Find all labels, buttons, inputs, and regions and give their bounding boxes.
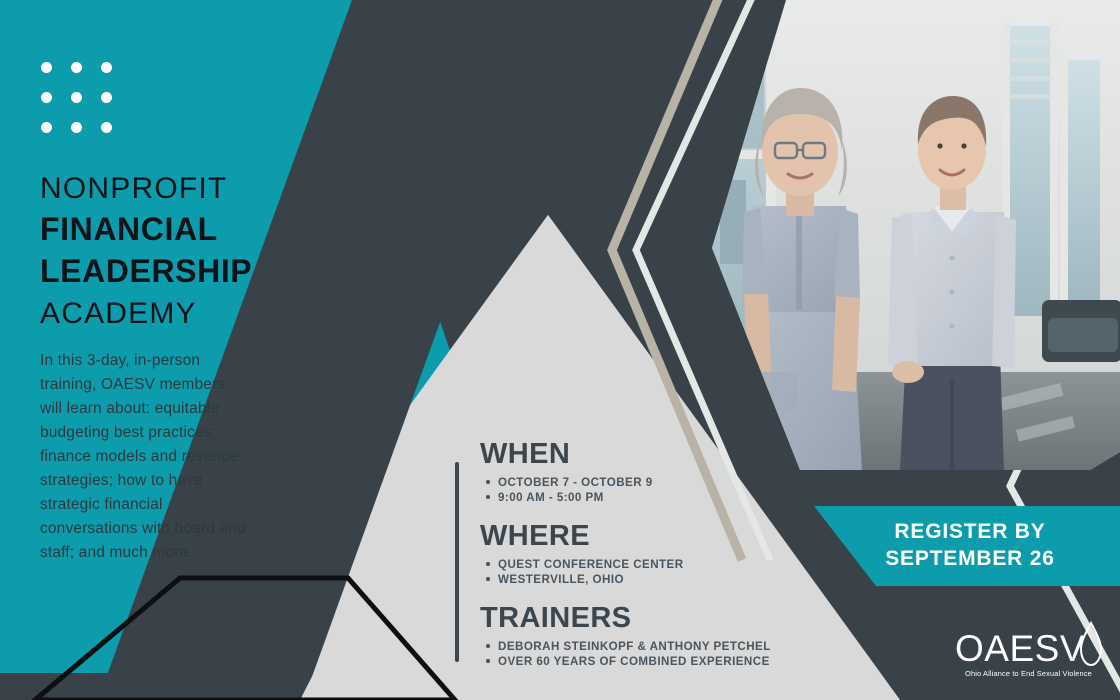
list-item: WESTERVILLE, OHIO	[498, 572, 810, 587]
dot	[41, 122, 52, 133]
list-item: 9:00 AM - 5:00 PM	[498, 490, 810, 505]
list-item: OCTOBER 7 - OCTOBER 9	[498, 475, 810, 490]
dot	[101, 122, 112, 133]
dot	[41, 62, 52, 73]
dot-grid-decoration	[41, 62, 131, 152]
description-paragraph: In this 3-day, in-person training, OAESV…	[40, 349, 250, 565]
list-item: DEBORAH STEINKOPF & ANTHONY PETCHEL	[498, 639, 810, 654]
title-line-academy: ACADEMY	[40, 293, 370, 334]
title-line-nonprofit: NONPROFIT	[40, 168, 370, 209]
dot	[101, 62, 112, 73]
page-title: NONPROFIT FINANCIAL LEADERSHIP ACADEMY	[40, 168, 370, 334]
flyer-canvas: NONPROFIT FINANCIAL LEADERSHIP ACADEMY I…	[0, 0, 1120, 700]
trainers-list: DEBORAH STEINKOPF & ANTHONY PETCHEL OVER…	[480, 639, 810, 669]
details-vertical-rule	[455, 462, 459, 662]
details-section-where: WHERE QUEST CONFERENCE CENTER WESTERVILL…	[480, 522, 810, 587]
when-list: OCTOBER 7 - OCTOBER 9 9:00 AM - 5:00 PM	[480, 475, 810, 505]
flame-icon	[1080, 621, 1102, 667]
title-line-leadership: LEADERSHIP	[40, 251, 370, 293]
where-heading: WHERE	[480, 522, 810, 551]
where-list: QUEST CONFERENCE CENTER WESTERVILLE, OHI…	[480, 557, 810, 587]
oaesv-logo: OAESV Ohio Alliance to End Sexual Violen…	[955, 630, 1102, 678]
slate-corner-bottom-left	[0, 673, 196, 700]
list-item: QUEST CONFERENCE CENTER	[498, 557, 810, 572]
dot	[71, 92, 82, 103]
title-line-financial: FINANCIAL	[40, 209, 370, 251]
when-heading: WHEN	[480, 440, 810, 469]
dot	[41, 92, 52, 103]
trainers-heading: TRAINERS	[480, 604, 810, 633]
register-line-1: REGISTER BY	[894, 519, 1045, 546]
dot	[71, 62, 82, 73]
trainers-photo	[626, 0, 1120, 470]
register-line-2: SEPTEMBER 26	[885, 546, 1054, 573]
details-section-trainers: TRAINERS DEBORAH STEINKOPF & ANTHONY PET…	[480, 604, 810, 669]
dot	[71, 122, 82, 133]
logo-tagline: Ohio Alliance to End Sexual Violence	[955, 669, 1102, 678]
event-details: WHEN OCTOBER 7 - OCTOBER 9 9:00 AM - 5:0…	[480, 440, 810, 669]
logo-wordmark: OAESV	[955, 630, 1085, 667]
dot	[101, 92, 112, 103]
details-section-when: WHEN OCTOBER 7 - OCTOBER 9 9:00 AM - 5:0…	[480, 440, 810, 505]
list-item: OVER 60 YEARS OF COMBINED EXPERIENCE	[498, 654, 810, 669]
